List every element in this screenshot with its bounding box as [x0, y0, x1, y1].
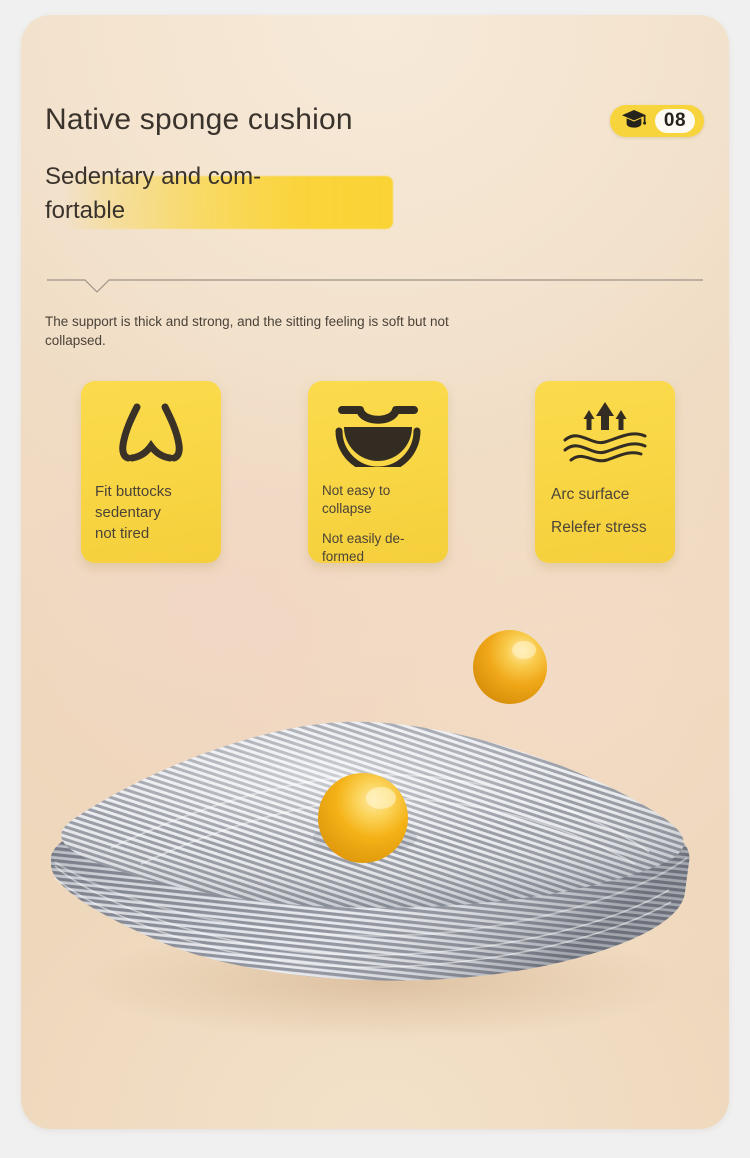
feature-line: Not easy to collapse: [322, 482, 440, 518]
product-infographic-page: Native sponge cushion 08 Sedentary and c…: [0, 0, 750, 1158]
feature-line: Relefer stress: [551, 518, 667, 538]
section-divider: [47, 277, 703, 295]
card-inner: Native sponge cushion 08 Sedentary and c…: [21, 15, 729, 1129]
feature-line: not tired: [95, 523, 213, 544]
description-text: The support is thick and strong, and the…: [45, 312, 465, 350]
feature-text-block: Arc surface Relefer stress: [551, 485, 667, 538]
feature-text-block: Fit buttocks sedentary not tired: [95, 481, 213, 544]
feature-card-not-collapse[interactable]: Not easy to collapse Not easily de-forme…: [308, 381, 448, 563]
feature-card-list: Fit buttocks sedentary not tired: [81, 381, 671, 566]
floating-yellow-ball: [473, 630, 547, 704]
feature-text-block: Not easy to collapse Not easily de-forme…: [322, 482, 440, 566]
feature-card-arc-surface[interactable]: Arc surface Relefer stress: [535, 381, 675, 563]
feature-line: Arc surface: [551, 485, 667, 505]
subtitle-block: Sedentary and com-fortable: [45, 160, 445, 228]
feature-line: Fit buttocks: [95, 481, 213, 502]
cushion-bowl-icon: [308, 395, 448, 473]
arc-waves-arrows-icon: [535, 395, 675, 473]
feature-line: sedentary: [95, 502, 213, 523]
buttocks-outline-icon: [81, 395, 221, 473]
lesson-badge: 08: [610, 105, 704, 137]
badge-number: 08: [655, 109, 695, 133]
graduation-cap-icon: [621, 109, 647, 134]
page-subtitle: Sedentary and com-fortable: [45, 160, 335, 228]
feature-line: Not easily de-formed: [322, 530, 440, 566]
infographic-card: Native sponge cushion 08 Sedentary and c…: [21, 15, 729, 1129]
page-title: Native sponge cushion: [45, 103, 353, 137]
feature-card-fit-buttocks[interactable]: Fit buttocks sedentary not tired: [81, 381, 221, 563]
product-scene: [21, 590, 729, 1129]
